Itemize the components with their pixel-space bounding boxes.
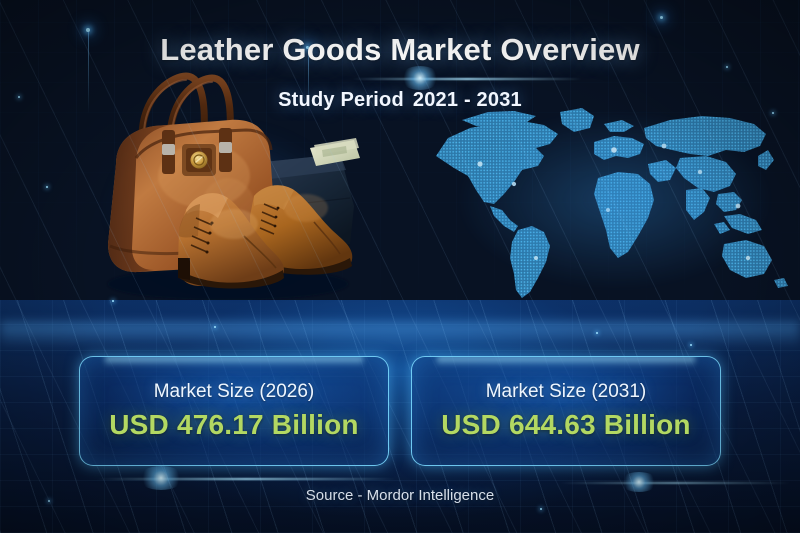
metric-label: Market Size (2026) bbox=[154, 381, 315, 403]
vignette-overlay bbox=[0, 0, 800, 533]
metric-value: USD 644.63 Billion bbox=[441, 409, 690, 441]
metric-value: USD 476.17 Billion bbox=[109, 409, 358, 441]
metric-label: Market Size (2031) bbox=[486, 381, 647, 403]
market-overview-poster: Leather Goods Market Overview Study Peri… bbox=[0, 0, 800, 533]
